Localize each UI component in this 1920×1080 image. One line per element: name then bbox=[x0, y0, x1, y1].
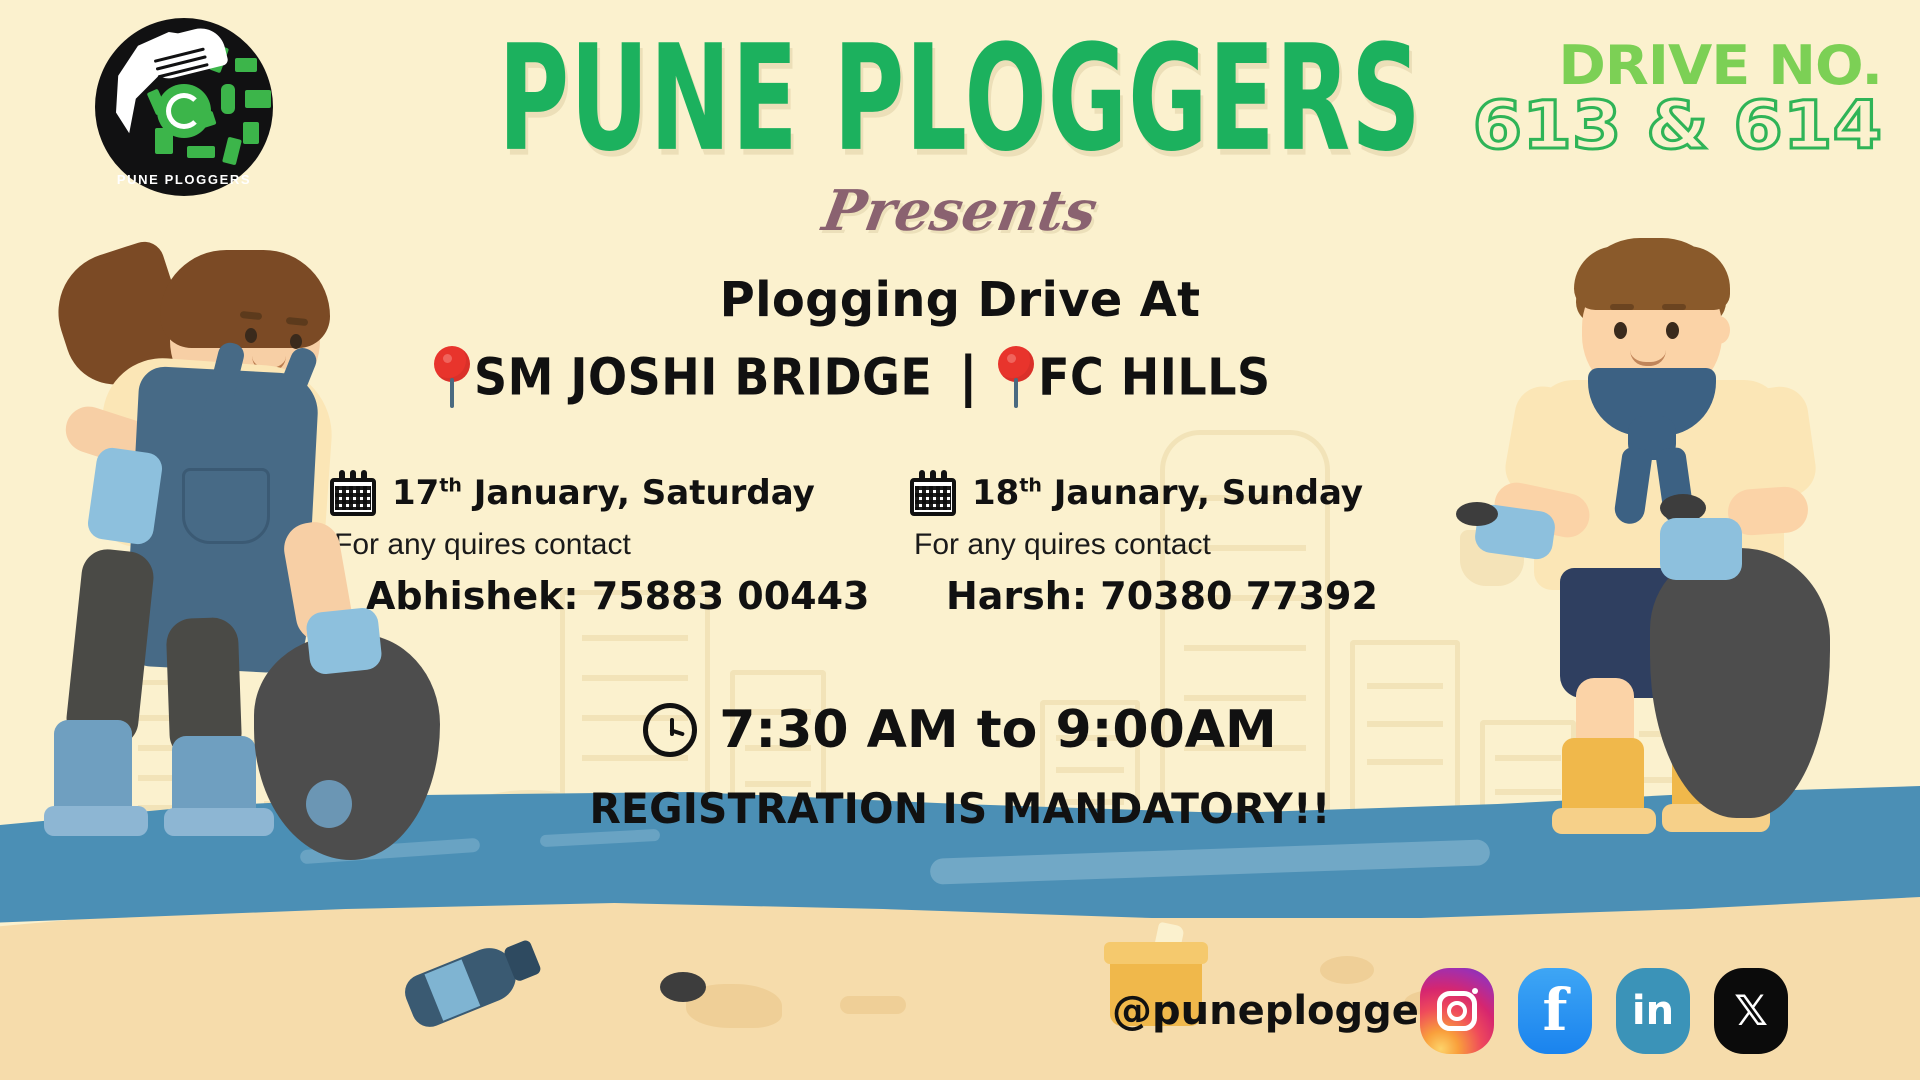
date-row: 18th Jaunary, Sunday bbox=[910, 470, 1430, 516]
social-icons-row: f in 𝕏 bbox=[1420, 968, 1788, 1054]
facebook-icon[interactable]: f bbox=[1518, 968, 1592, 1054]
drive-number-value: 613 & 614 bbox=[1473, 95, 1882, 158]
facebook-glyph: f bbox=[1518, 981, 1592, 1039]
drive-number-label: DRIVE NO. bbox=[1480, 40, 1882, 91]
illustration-woman-plogger bbox=[40, 250, 470, 810]
details-columns: 17th January, Saturday For any quires co… bbox=[330, 470, 1510, 618]
illustration-boy-plogger bbox=[1490, 238, 1890, 798]
poster-canvas: PUNE PLOGGERS PUNE PLOGGERS Presents DRI… bbox=[0, 0, 1920, 1080]
venue-row: SM JOSHI BRIDGE | FC HILLS bbox=[430, 345, 1190, 408]
sand-mound bbox=[840, 996, 906, 1014]
queries-label: For any quires contact bbox=[914, 528, 1430, 562]
date-text: 18th Jaunary, Sunday bbox=[972, 473, 1363, 513]
presents-subtitle: Presents bbox=[0, 178, 1920, 244]
date-month-weekday: January, Saturday bbox=[474, 473, 815, 513]
clock-icon bbox=[643, 703, 697, 757]
x-twitter-icon[interactable]: 𝕏 bbox=[1714, 968, 1788, 1054]
date-ordinal: th bbox=[1019, 475, 1042, 497]
footprint-mark bbox=[1320, 956, 1374, 984]
details-column-2: 18th Jaunary, Sunday For any quires cont… bbox=[910, 470, 1430, 618]
map-pin-icon bbox=[994, 346, 1038, 408]
linkedin-glyph: in bbox=[1616, 991, 1690, 1031]
contact-2[interactable]: Harsh: 70380 77392 bbox=[946, 574, 1430, 618]
date-day: 18 bbox=[972, 473, 1019, 513]
pebble-litter bbox=[660, 972, 706, 1002]
calendar-icon bbox=[910, 470, 956, 516]
venue-name-1: SM JOSHI BRIDGE bbox=[474, 347, 932, 406]
date-month-weekday: Jaunary, Sunday bbox=[1054, 473, 1363, 513]
venue-name-2: FC HILLS bbox=[1038, 347, 1271, 406]
x-glyph: 𝕏 bbox=[1714, 990, 1788, 1032]
social-handle: @puneploggers bbox=[1112, 988, 1462, 1034]
event-time: 7:30 AM to 9:00AM bbox=[719, 700, 1277, 760]
instagram-icon[interactable] bbox=[1420, 968, 1494, 1054]
venue-separator: | bbox=[958, 345, 978, 408]
linkedin-icon[interactable]: in bbox=[1616, 968, 1690, 1054]
drive-number-block: DRIVE NO. 613 & 614 bbox=[1503, 40, 1882, 158]
